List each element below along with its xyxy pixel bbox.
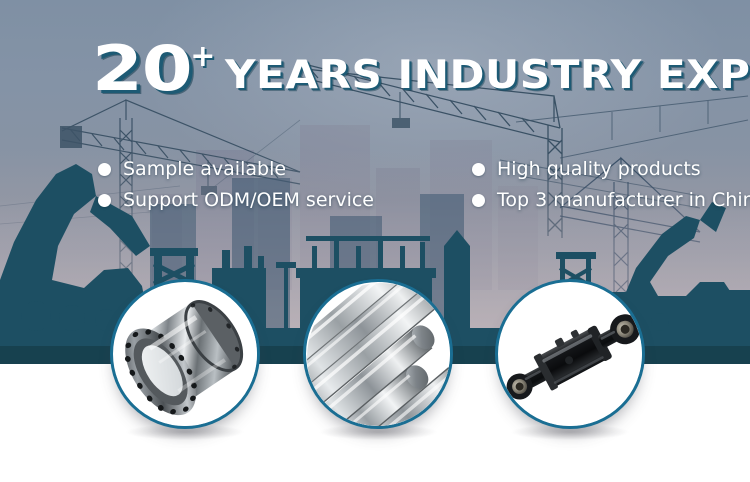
steel-flange-pipe-image: [113, 282, 257, 426]
product-circle-hydraulic-cylinder[interactable]: [495, 279, 645, 429]
product-circles: [0, 0, 750, 482]
product-circle-steel-round-bars[interactable]: [303, 279, 453, 429]
hydraulic-cylinder-image: [498, 282, 642, 426]
steel-round-bars-image: [306, 282, 450, 426]
promo-banner: 20 + YEARS INDUSTRY EXPERIENCE Sample av…: [0, 0, 750, 482]
product-circle-steel-flange-pipe[interactable]: [110, 279, 260, 429]
